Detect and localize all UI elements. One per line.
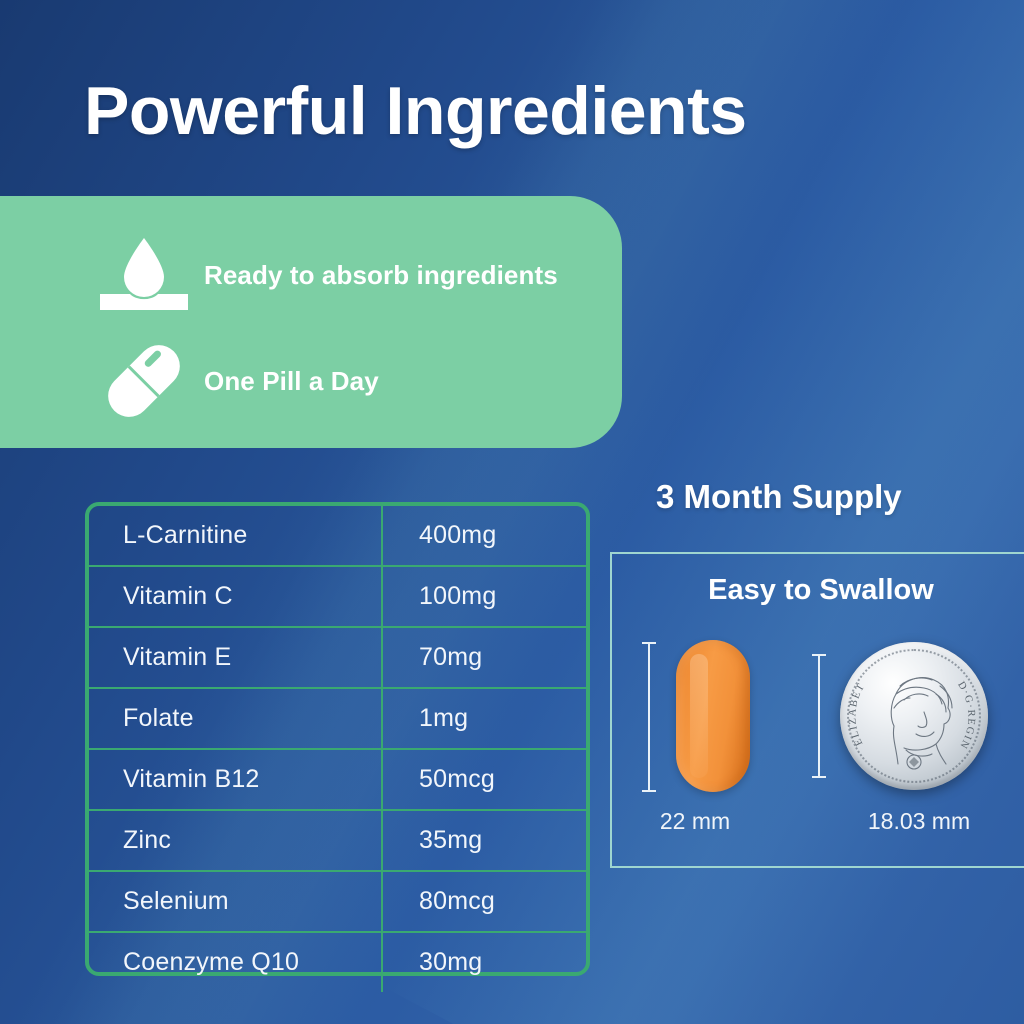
coin-measure-bracket xyxy=(812,654,826,778)
ingredient-name: Folate xyxy=(89,688,382,749)
capsule-pill-icon xyxy=(98,338,190,424)
supply-title: 3 Month Supply xyxy=(656,478,902,516)
pill-measure-bracket xyxy=(642,642,656,792)
table-row: Vitamin E 70mg xyxy=(89,627,586,688)
product-infographic: Powerful Ingredients Ready to absorb ing… xyxy=(0,0,1024,1024)
ingredient-amount: 50mcg xyxy=(382,749,586,810)
pill-image xyxy=(676,640,750,792)
ingredient-name: Vitamin C xyxy=(89,566,382,627)
easy-to-swallow-panel: Easy to Swallow 22 mm xyxy=(610,552,1024,868)
feature-label: Ready to absorb ingredients xyxy=(204,260,558,291)
ingredient-amount: 80mcg xyxy=(382,871,586,932)
ingredient-amount: 70mg xyxy=(382,627,586,688)
table-row: L-Carnitine 400mg xyxy=(89,506,586,566)
svg-text:ELIZABETH II: ELIZABETH II xyxy=(840,642,868,747)
table-row: Selenium 80mcg xyxy=(89,871,586,932)
table-row: Coenzyme Q10 30mg xyxy=(89,932,586,992)
table-row: Vitamin C 100mg xyxy=(89,566,586,627)
coin-portrait-icon: ELIZABETH II D·G·REGINA xyxy=(840,642,988,790)
easy-to-swallow-title: Easy to Swallow xyxy=(612,574,1024,607)
ingredients-table: L-Carnitine 400mg Vitamin C 100mg Vitami… xyxy=(85,502,590,976)
feature-item-absorb: Ready to absorb ingredients xyxy=(98,232,558,318)
table-row: Vitamin B12 50mcg xyxy=(89,749,586,810)
table-row: Zinc 35mg xyxy=(89,810,586,871)
ingredient-name: Selenium xyxy=(89,871,382,932)
ingredient-name: Zinc xyxy=(89,810,382,871)
feature-item-one-pill: One Pill a Day xyxy=(98,338,379,424)
ingredient-name: L-Carnitine xyxy=(89,506,382,566)
coin-image: ELIZABETH II D·G·REGINA xyxy=(840,642,988,790)
feature-label: One Pill a Day xyxy=(204,366,379,397)
size-comparison: 22 mm xyxy=(612,632,1024,852)
page-title: Powerful Ingredients xyxy=(84,72,984,150)
ingredient-amount: 30mg xyxy=(382,932,586,992)
ingredient-amount: 100mg xyxy=(382,566,586,627)
ingredient-name: Vitamin E xyxy=(89,627,382,688)
table-row: Folate 1mg xyxy=(89,688,586,749)
ingredient-name: Coenzyme Q10 xyxy=(89,932,382,992)
water-droplet-absorb-icon xyxy=(98,232,190,318)
ingredient-amount: 35mg xyxy=(382,810,586,871)
ingredient-amount: 1mg xyxy=(382,688,586,749)
features-panel: Ready to absorb ingredients One Pill a D… xyxy=(0,196,622,448)
ingredient-name: Vitamin B12 xyxy=(89,749,382,810)
pill-measurement-label: 22 mm xyxy=(620,808,770,835)
coin-measurement-label: 18.03 mm xyxy=(824,808,1014,835)
ingredient-amount: 400mg xyxy=(382,506,586,566)
